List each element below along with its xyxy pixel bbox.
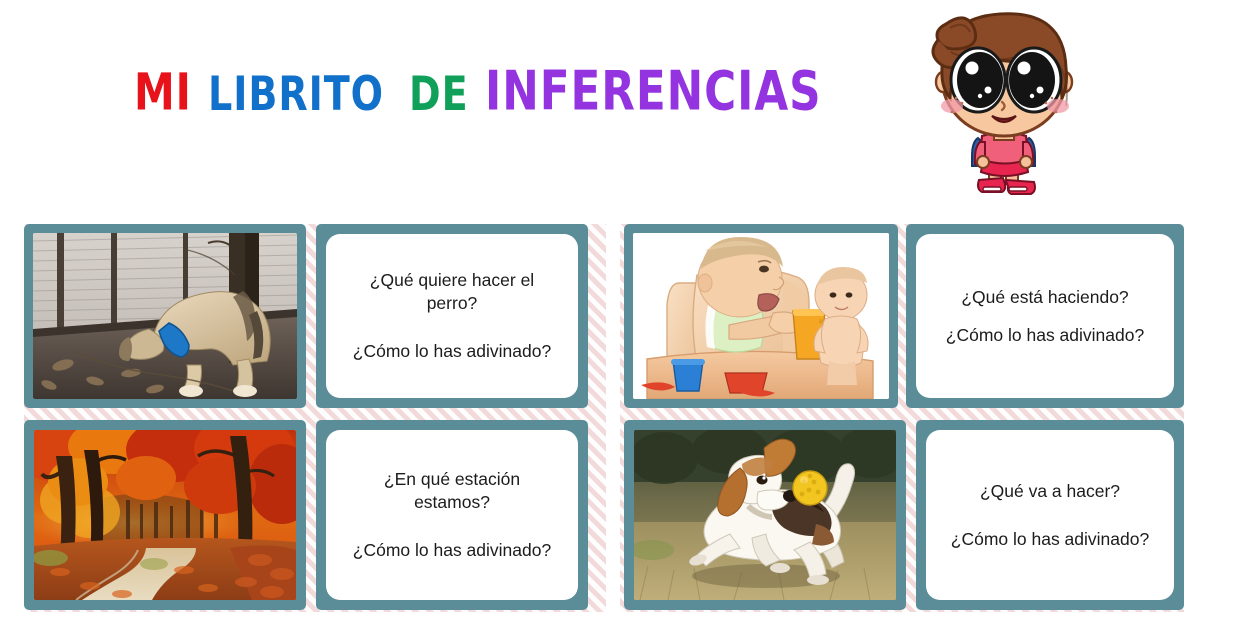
title-word-librito: LIBRITO: [208, 70, 384, 118]
autumn-forest-path-photo: [34, 430, 296, 600]
title-word-inferencias: INFERENCIAS: [485, 64, 822, 119]
card-4-question-1: ¿Qué va a hacer?: [944, 480, 1156, 502]
card-1-photo-frame: [24, 224, 306, 408]
card-2-question-frame: ¿Qué está haciendo? ¿Cómo lo has adivina…: [906, 224, 1184, 408]
card-3-question-1: ¿En qué estación estamos?: [344, 468, 560, 513]
card-2-photo-frame: [624, 224, 898, 408]
card-4-question-card[interactable]: ¿Qué va a hacer? ¿Cómo lo has adivinado?: [926, 430, 1174, 600]
page-title: MILIBRITODEINFERENCIAS: [134, 72, 847, 119]
card-3-photo-frame: [24, 420, 306, 610]
card-2-question-card[interactable]: ¿Qué está haciendo? ¿Cómo lo has adivina…: [916, 234, 1174, 398]
beagle-running-with-ball-photo: [634, 430, 896, 600]
card-2-question-2: ¿Cómo lo has adivinado?: [934, 324, 1156, 346]
baby-feeding-doll-photo: [633, 233, 889, 399]
card-1-question-card[interactable]: ¿Qué quiere hacer el perro? ¿Cómo lo has…: [326, 234, 578, 398]
card-3-question-frame: ¿En qué estación estamos? ¿Cómo lo has a…: [316, 420, 588, 610]
card-1-question-2: ¿Cómo lo has adivinado?: [344, 340, 560, 362]
slide-canvas: MILIBRITODEINFERENCIAS: [0, 0, 1242, 617]
title-word-mi: MI: [134, 68, 192, 119]
card-4-photo-frame: [624, 420, 906, 610]
title-word-de: DE: [409, 70, 469, 118]
girl-mascot-illustration: [916, 2, 1082, 210]
card-1-question-frame: ¿Qué quiere hacer el perro? ¿Cómo lo has…: [316, 224, 588, 408]
card-4-question-2: ¿Cómo lo has adivinado?: [944, 528, 1156, 550]
card-4-question-frame: ¿Qué va a hacer? ¿Cómo lo has adivinado?: [916, 420, 1184, 610]
card-1-question-1: ¿Qué quiere hacer el perro?: [344, 269, 560, 314]
dog-digging-under-fence-photo: [33, 233, 297, 399]
card-3-question-card[interactable]: ¿En qué estación estamos? ¿Cómo lo has a…: [326, 430, 578, 600]
card-2-question-1: ¿Qué está haciendo?: [934, 286, 1156, 308]
card-3-question-2: ¿Cómo lo has adivinado?: [344, 539, 560, 561]
